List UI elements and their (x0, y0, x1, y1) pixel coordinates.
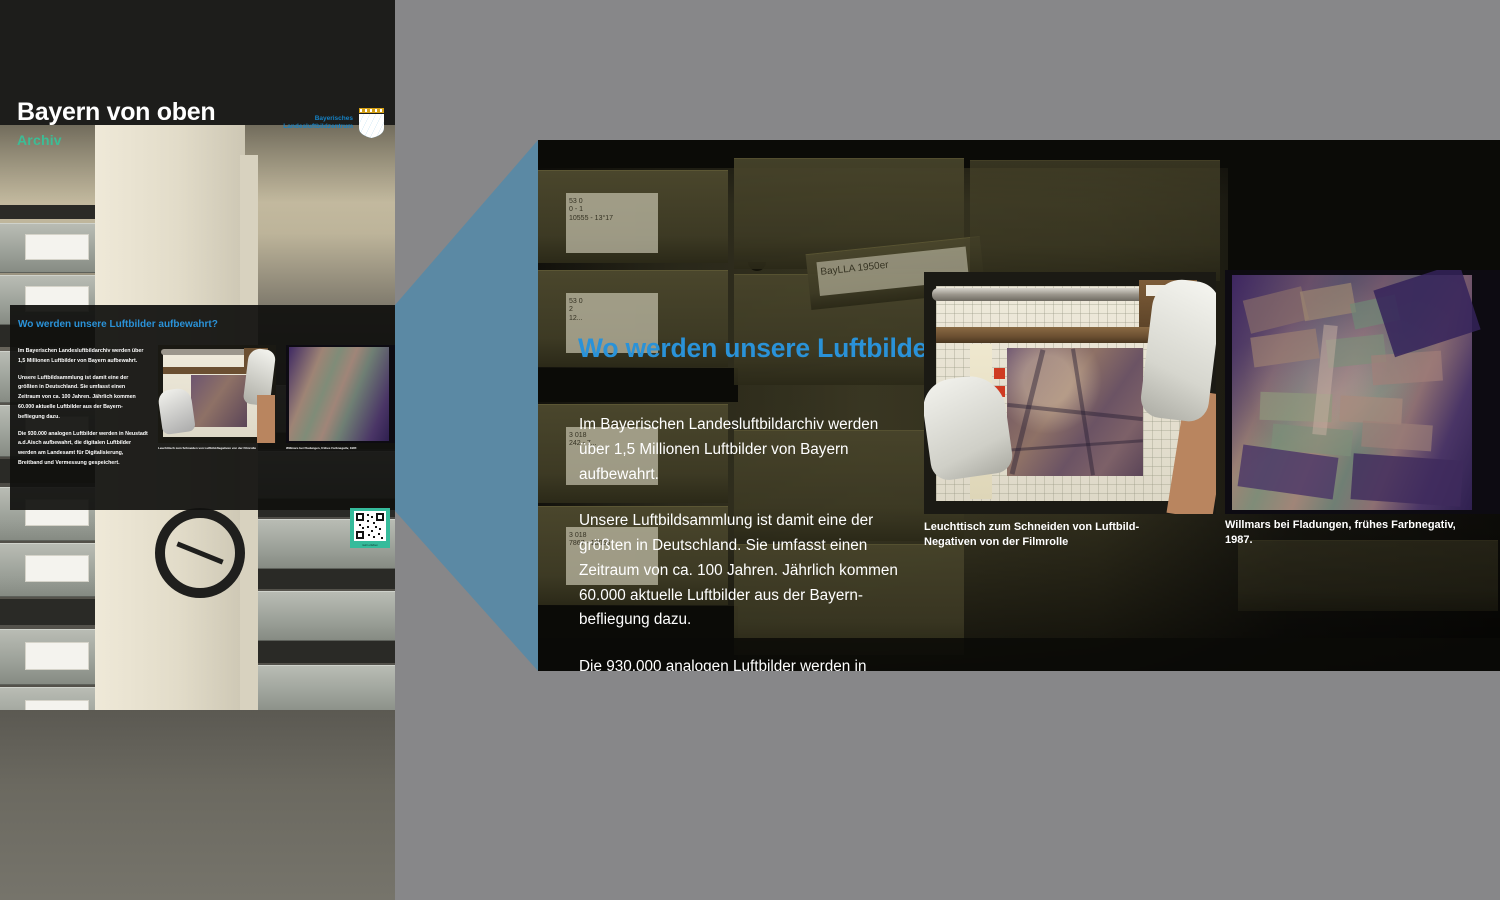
poster-paragraph-2: Unsere Luftbildsammlung ist damit eine d… (18, 374, 148, 423)
detail-paragraph-1: Im Bayerischen Landesluftbildarchiv werd… (579, 413, 909, 487)
aerial-image-content (1232, 275, 1472, 510)
floor (0, 710, 395, 900)
dark-region (1228, 140, 1500, 280)
lighttable-photo-caption: Leuchttisch zum Schneiden von Luftbild-N… (924, 520, 1184, 550)
aerial-negative-on-lighttable (1007, 348, 1143, 476)
detail-paragraph-2: Unsere Luftbildsammlung ist damit eine d… (579, 509, 909, 633)
poster-header: Bayern von oben Archiv BayerischesLandes… (0, 40, 395, 125)
poster-subtitle: Archiv (17, 132, 62, 148)
poster-panel-body: Im Bayerischen Landesluftbildarchiv werd… (18, 347, 148, 476)
poster-paragraph-1: Im Bayerischen Landesluftbildarchiv werd… (18, 347, 148, 367)
poster-aerial-thumb (286, 345, 395, 443)
logo-text: BayerischesLandesluftbildzentrum (283, 115, 353, 131)
qr-code-badge[interactable]: mehr erfahren (350, 508, 390, 548)
exhibition-poster: Wo werden unsere Luftbilder aufbewahrt? … (0, 0, 395, 900)
poster-info-panel: Wo werden unsere Luftbilder aufbewahrt? … (10, 305, 395, 510)
archive-room-photo (0, 125, 395, 900)
lighttable-photo (924, 272, 1216, 514)
brand-logo: BayerischesLandesluftbildzentrum (283, 108, 385, 138)
qr-code-icon (354, 511, 386, 541)
qr-badge-caption: mehr erfahren (350, 544, 390, 547)
logo-line-1: Bayerisches (315, 115, 353, 122)
detail-zoom-panel: 53 0 0 - 1 10555 - 13°17 53 0 2 12... 3 … (538, 140, 1500, 671)
archive-box (970, 160, 1220, 281)
archive-box-label: 53 0 0 - 1 10555 - 13°17 (566, 193, 658, 253)
logo-line-2: Landesluftbildzentrum (283, 123, 353, 130)
archive-box (1238, 540, 1498, 611)
bavarian-coat-of-arms-icon (358, 108, 385, 138)
archive-box-label-text: BayLLA 1950er (820, 260, 889, 279)
archive-box-label-text: 53 0 2 12... (569, 298, 583, 323)
shelf-shadow (538, 368, 738, 402)
poster-paragraph-3: Die 930.000 analogen Luftbilder werden i… (18, 430, 148, 469)
detail-paragraph-3: Die 930.000 analogen Luftbilder werden i… (579, 655, 909, 671)
archive-box: 53 0 0 - 1 10555 - 13°17 (538, 170, 728, 263)
poster-lighttable-thumb (158, 345, 276, 443)
poster-caption-1: Leuchttisch zum Schneiden von Luftbild-N… (158, 446, 288, 451)
shelf-handwheel[interactable] (155, 508, 245, 598)
poster-panel-heading: Wo werden unsere Luftbilder aufbewahrt? (18, 319, 218, 330)
archive-box-label-text: 53 0 0 - 1 10555 - 13°17 (569, 198, 613, 223)
detail-panel-body: Im Bayerischen Landesluftbildarchiv werd… (579, 413, 909, 671)
aerial-negative-photo (1225, 270, 1500, 514)
poster-title: Bayern von oben (17, 98, 215, 127)
aerial-negative-photo-caption: Willmars bei Fladungen, frühes Farbnegat… (1225, 518, 1475, 548)
poster-caption-2: Willmars bei Fladungen, frühes Farbnegat… (286, 446, 395, 451)
